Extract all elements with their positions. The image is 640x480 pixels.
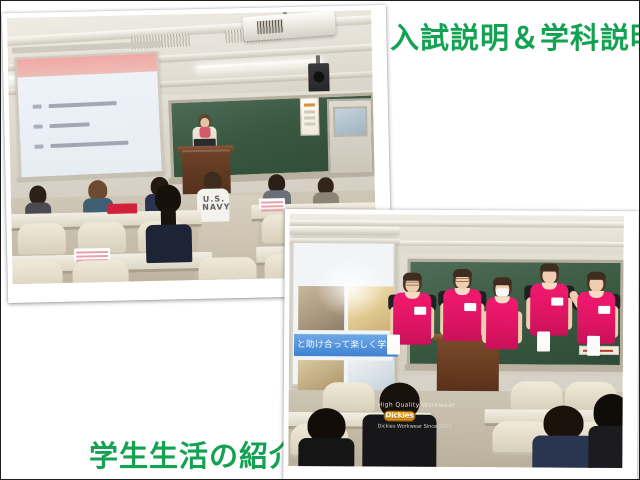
- chair: [198, 257, 257, 284]
- presenter-3: [485, 277, 519, 351]
- projection-screen: [14, 51, 163, 179]
- chair: [17, 223, 66, 258]
- attendee-foreground: [298, 408, 354, 468]
- attendee-navy-shirt: U.S. NAVY: [196, 171, 229, 222]
- presenter-4: [529, 263, 570, 345]
- screen-glare: [315, 258, 385, 318]
- slide-header-bar: [17, 53, 158, 77]
- name-badge: [464, 303, 476, 311]
- slide-bullet-number: [34, 144, 43, 148]
- slide-banner: と助け合って楽しく学ぶ: [294, 334, 398, 357]
- wall-poster: [300, 97, 320, 135]
- screen-roller: [288, 226, 399, 236]
- glasses: [455, 278, 470, 282]
- attendee-body: [532, 435, 594, 468]
- presenter-5: [577, 272, 615, 352]
- red-notebook: [107, 203, 137, 214]
- handout-lines: [76, 251, 108, 254]
- caption-student-life: 学生生活の紹介: [89, 433, 299, 475]
- attendee-foreground: [532, 405, 594, 468]
- jacket-tagline-top: High Quality Workwear: [378, 400, 422, 409]
- dickies-brand-badge: Dickies: [384, 411, 416, 422]
- face-mask: [496, 288, 509, 296]
- slide-bullet-number: [33, 104, 42, 108]
- screen-roller-bar: [288, 238, 399, 244]
- slide-canvas: U.S. NAVY: [0, 0, 640, 480]
- paper-sheet: [587, 336, 600, 356]
- pink-polo-shirt: [486, 297, 518, 349]
- projection-screen: と助け合って楽しく学ぶ: [291, 236, 396, 387]
- caption-admissions-briefing: 入試説明＆学科説明: [390, 15, 640, 57]
- photo-student-life-content: と助け合って楽しく学ぶ: [288, 214, 624, 468]
- attendee-body: [146, 224, 193, 263]
- slide-bullet-number: [33, 124, 42, 128]
- chair: [72, 260, 129, 285]
- attendee-foreground: [588, 394, 624, 468]
- presenter-2: [443, 269, 481, 347]
- name-badge: [414, 307, 426, 315]
- attendee-body: [588, 426, 624, 468]
- presenter-bangs: [587, 272, 606, 280]
- attendee-head: [593, 394, 623, 430]
- name-badge: [551, 298, 563, 306]
- jacket-tagline-bottom: Dickies Workwear Since 1922: [377, 422, 421, 430]
- lecture-hall-scene-2: と助け合って楽しく学ぶ: [288, 214, 624, 468]
- glasses: [405, 282, 420, 286]
- attendee-dickies-jacket: High Quality Workwear Dickies Dickies Wo…: [362, 382, 437, 468]
- paper-sheet: [387, 335, 400, 355]
- attendee-foreground: [145, 184, 193, 263]
- name-badge: [598, 306, 610, 314]
- slide-banner-text: と助け合って楽しく学ぶ: [294, 334, 398, 357]
- handout: [259, 198, 285, 209]
- presenter-bangs: [403, 273, 422, 281]
- door-window: [333, 106, 368, 137]
- navy-shirt-text: U.S. NAVY: [202, 195, 226, 212]
- chair: [7, 261, 63, 284]
- attendee-body: [298, 438, 354, 468]
- pink-polo-shirt: [530, 283, 568, 335]
- slide-bullet-text: [50, 141, 128, 148]
- presenter-bangs: [493, 277, 512, 285]
- slide-bullet-text: [49, 122, 89, 128]
- dickies-logo-group: High Quality Workwear Dickies Dickies Wo…: [377, 400, 421, 430]
- paper-sheet: [537, 331, 550, 351]
- photo-student-life: と助け合って楽しく学ぶ: [283, 209, 639, 480]
- presenter-1: [393, 273, 431, 351]
- lecturer-scarf: [199, 127, 210, 138]
- handout-lines: [261, 201, 283, 203]
- presenter-bangs: [540, 263, 559, 271]
- pink-polo-shirt: [443, 289, 481, 341]
- presenter-bangs: [453, 269, 472, 277]
- slide-bullet-text: [49, 101, 117, 108]
